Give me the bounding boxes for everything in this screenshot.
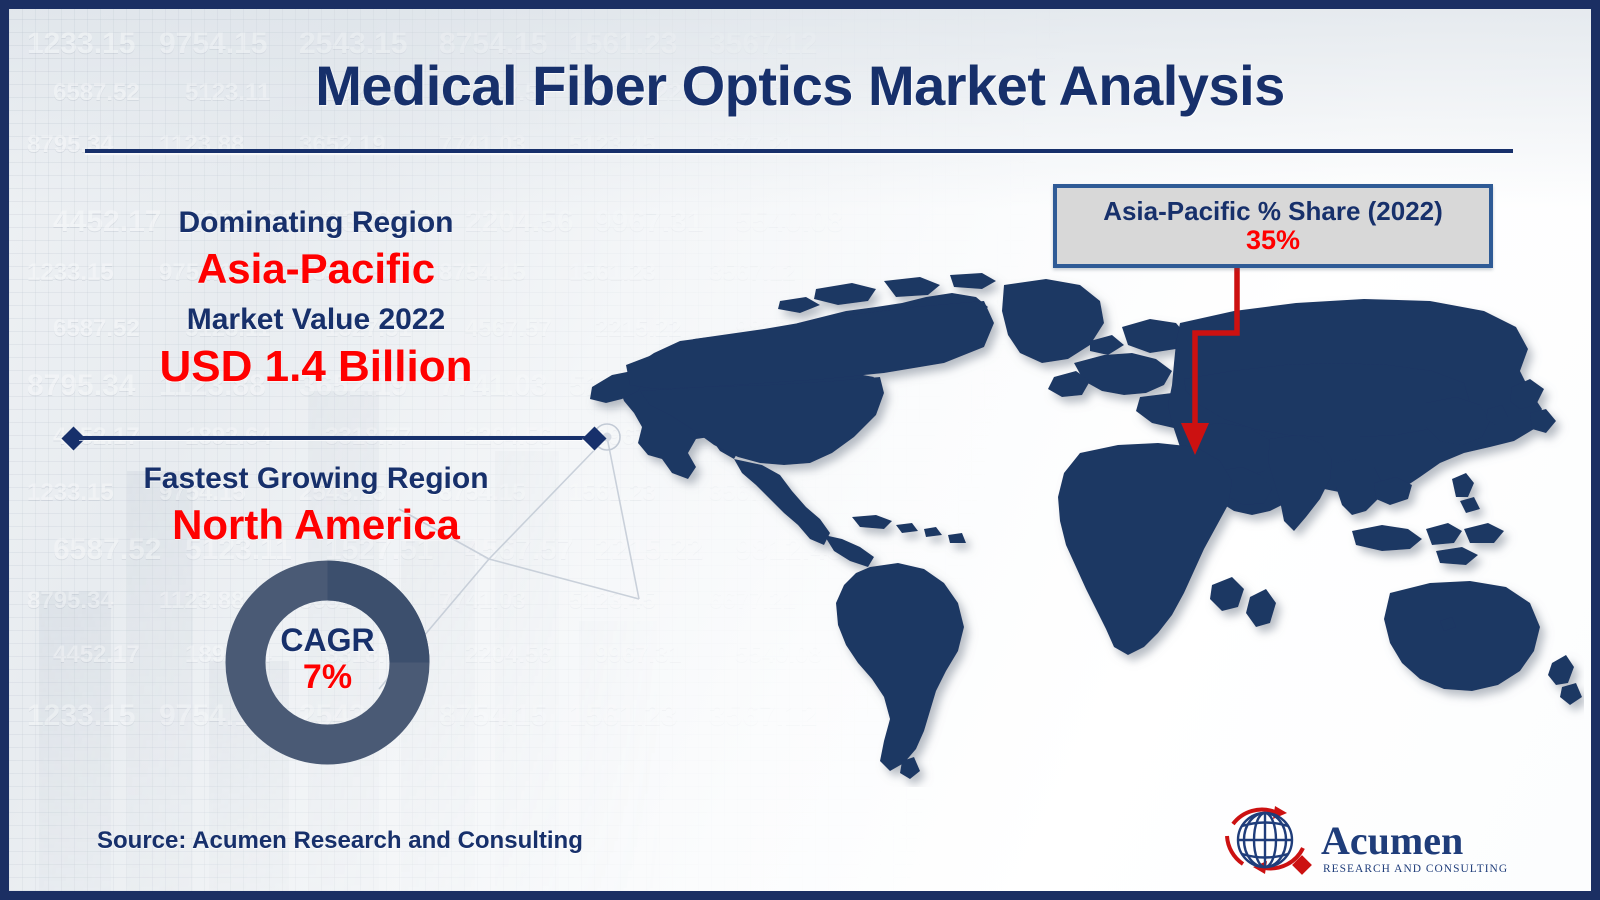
dominating-region-value: Asia-Pacific [51, 244, 581, 294]
asia-pacific-share-callout: Asia-Pacific % Share (2022) 35% [1053, 184, 1493, 268]
background-number: 8795.34 [27, 131, 114, 159]
market-value-label: Market Value 2022 [51, 302, 581, 339]
background-number: 1233.15 [27, 699, 135, 733]
market-value-value: USD 1.4 Billion [51, 341, 581, 394]
dominating-region-label: Dominating Region [51, 205, 581, 242]
fastest-growing-block: Fastest Growing Region North America [51, 461, 581, 550]
dominating-region-block: Dominating Region Asia-Pacific Market Va… [51, 205, 581, 393]
fastest-growing-value: North America [51, 500, 581, 550]
cagr-donut-chart: CAGR 7% [221, 556, 434, 769]
world-map [584, 267, 1584, 787]
background-number: 9967.31 [595, 205, 703, 239]
callout-value: 35% [1246, 226, 1300, 256]
background-number: 5123.45 [569, 131, 656, 159]
title-underline [85, 149, 1513, 153]
callout-leader-arrow [1159, 259, 1359, 469]
infographic-canvas: 1233.159754.152543.158754.151561.233567.… [9, 9, 1591, 891]
background-number: 5540.08 [735, 205, 843, 239]
divider-bar [79, 436, 589, 440]
background-number: 3652.19 [299, 131, 386, 159]
divider-diamond-right [582, 426, 606, 450]
cagr-label: CAGR [221, 624, 434, 658]
source-text: Source: Acumen Research and Consulting [97, 827, 583, 855]
logo-globe [1238, 813, 1292, 867]
page-title: Medical Fiber Optics Market Analysis [9, 53, 1591, 118]
background-number: 7741.03 [439, 131, 526, 159]
background-number: 4452.17 [53, 641, 140, 669]
fastest-growing-label: Fastest Growing Region [51, 461, 581, 498]
background-number: 1123.88 [159, 131, 244, 159]
logo-brand: Acumen [1321, 818, 1463, 863]
cagr-donut-center: CAGR 7% [221, 624, 434, 696]
acumen-logo: Acumen RESEARCH AND CONSULTING [1217, 802, 1517, 880]
section-divider [61, 427, 607, 449]
cagr-value: 7% [221, 658, 434, 696]
callout-title: Asia-Pacific % Share (2022) [1103, 196, 1443, 227]
logo-tagline: RESEARCH AND CONSULTING [1323, 863, 1508, 875]
background-number: 8795.34 [27, 587, 114, 615]
infographic-frame: 1233.159754.152543.158754.151561.233567.… [0, 0, 1600, 900]
background-number: 6677.21 [709, 131, 796, 159]
